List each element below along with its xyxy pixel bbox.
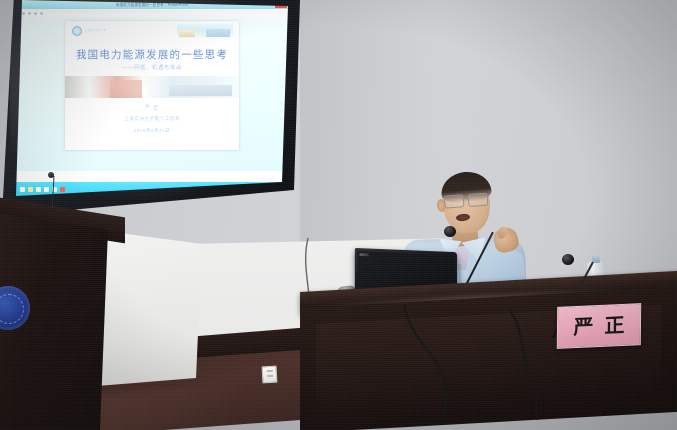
- university-logo: 上 海 交 通 大 学: [72, 26, 106, 36]
- screen-surface: 我国电力能源发展的一些思考 - PowerPoint 上 海 交 通 大 学: [16, 0, 288, 196]
- slide-header-photo: [177, 24, 233, 38]
- slide-page: 上 海 交 通 大 学 我国电力能源发展的一些思考 ——问题、机遇与挑战 严 正…: [65, 21, 239, 150]
- name-card-char-2: 正: [604, 315, 624, 336]
- lens-right: [468, 193, 489, 207]
- slide-presenter-name: 严 正: [65, 104, 239, 111]
- name-card-char-1: 严: [573, 316, 593, 337]
- slide-photo-band: [65, 76, 239, 98]
- print-icon[interactable]: [40, 12, 43, 15]
- university-logo-text: 上 海 交 通 大 学: [84, 29, 106, 32]
- slide-title: 我国电力能源发展的一些思考: [65, 47, 239, 62]
- lens-left: [444, 194, 465, 208]
- redo-icon[interactable]: [34, 12, 37, 15]
- ribbon-toolbar-icons[interactable]: [22, 12, 43, 15]
- slide-affiliation: 上海交通大学电气工程系: [65, 116, 239, 122]
- slide-subtitle: ——问题、机遇与挑战: [65, 64, 239, 71]
- eyeglasses-icon: [444, 192, 491, 207]
- power-socket-icon: [262, 366, 278, 384]
- lectern-mic-icon: [48, 172, 54, 178]
- undo-icon[interactable]: [28, 12, 31, 15]
- office-icon[interactable]: [60, 187, 65, 192]
- slide-date: 2016年9月20日: [65, 128, 239, 134]
- laptop-brand-logo: [359, 253, 368, 256]
- slide-stage: 上 海 交 通 大 学 我国电力能源发展的一些思考 ——问题、机遇与挑战 严 正…: [16, 19, 288, 171]
- save-icon[interactable]: [22, 12, 25, 15]
- lecture-hall-photo: 我国电力能源发展的一些思考 - PowerPoint 上 海 交 通 大 学: [0, 0, 677, 430]
- taskbar-icon-group[interactable]: [20, 187, 65, 192]
- desk-mic-icon: [562, 254, 574, 265]
- university-name-cn: 上 海 交 通 大 学: [84, 29, 106, 32]
- desk-cable: [400, 300, 570, 425]
- handheld-mic-icon: [444, 226, 456, 237]
- folder-icon[interactable]: [28, 187, 33, 192]
- media-icon[interactable]: [44, 187, 49, 192]
- mail-icon[interactable]: [36, 187, 41, 192]
- university-seal-icon: [72, 26, 82, 36]
- browser-icon[interactable]: [20, 187, 25, 192]
- projection-screen: 我国电力能源发展的一些思考 - PowerPoint 上 海 交 通 大 学: [0, 0, 300, 216]
